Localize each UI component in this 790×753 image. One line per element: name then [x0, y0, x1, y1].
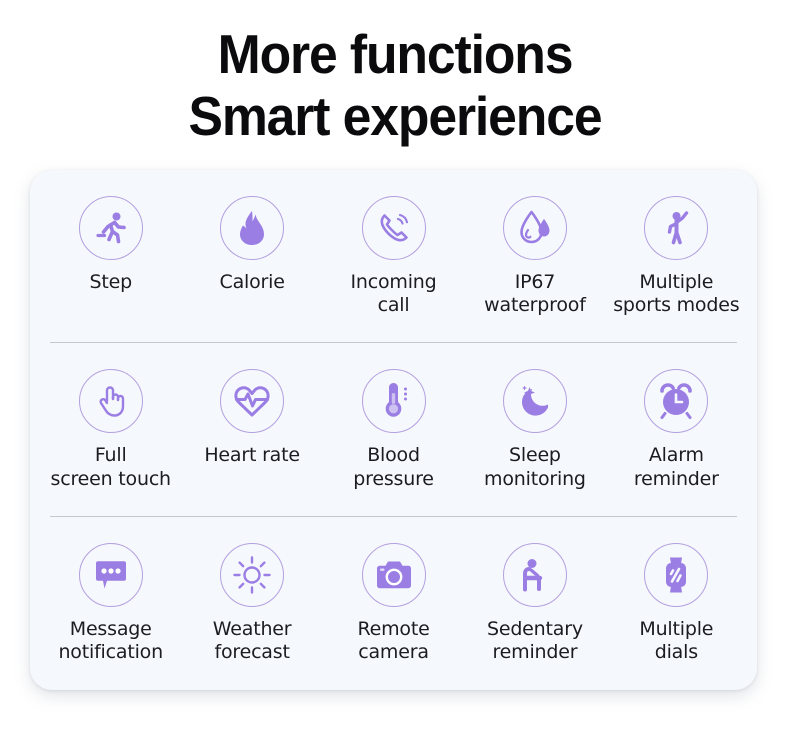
feature-item-ip67-waterproof[interactable]: IP67 waterproof	[464, 170, 605, 317]
camera-icon	[362, 543, 426, 607]
feature-label: Calorie	[220, 271, 285, 294]
sitting-person-icon	[503, 543, 567, 607]
heart-pulse-icon	[220, 369, 284, 433]
feature-label: Message notification	[58, 618, 162, 664]
feature-label: IP67 waterproof	[484, 271, 586, 317]
feature-label: Weather forecast	[213, 618, 292, 664]
water-drop-icon	[503, 196, 567, 260]
feature-row: Step Calorie Incoming call	[30, 170, 757, 343]
page-title-line-1: More functions	[24, 24, 767, 86]
page-title: More functions Smart experience	[0, 0, 790, 147]
feature-item-sleep-monitoring[interactable]: Sleep monitoring	[464, 343, 605, 490]
feature-item-step[interactable]: Step	[40, 170, 181, 294]
feature-item-full-screen-touch[interactable]: Full screen touch	[40, 343, 181, 490]
feature-row: Full screen touch Heart rate	[30, 343, 757, 516]
sun-icon	[220, 543, 284, 607]
feature-label: Multiple sports modes	[613, 271, 739, 317]
feature-item-incoming-call[interactable]: Incoming call	[323, 170, 464, 317]
feature-item-multiple-dials[interactable]: Multiple dials	[606, 517, 747, 664]
feature-item-blood-pressure[interactable]: Blood pressure	[323, 343, 464, 490]
incoming-call-icon	[362, 196, 426, 260]
feature-item-weather-forecast[interactable]: Weather forecast	[181, 517, 322, 664]
flame-icon	[220, 196, 284, 260]
smartwatch-icon	[644, 543, 708, 607]
feature-label: Blood pressure	[353, 444, 433, 490]
feature-item-calorie[interactable]: Calorie	[181, 170, 322, 294]
feature-item-alarm-reminder[interactable]: Alarm reminder	[606, 343, 747, 490]
features-card: Step Calorie Incoming call	[30, 170, 757, 690]
thermometer-icon	[362, 369, 426, 433]
feature-label: Sedentary reminder	[487, 618, 583, 664]
running-person-icon	[79, 196, 143, 260]
feature-label: Incoming call	[351, 271, 437, 317]
feature-item-message-notification[interactable]: Message notification	[40, 517, 181, 664]
feature-item-sedentary-reminder[interactable]: Sedentary reminder	[464, 517, 605, 664]
feature-label: Full screen touch	[51, 444, 171, 490]
feature-label: Sleep monitoring	[484, 444, 586, 490]
feature-label: Heart rate	[204, 444, 300, 467]
chat-bubble-icon	[79, 543, 143, 607]
touch-hand-icon	[79, 369, 143, 433]
moon-stars-icon	[503, 369, 567, 433]
page-title-line-2: Smart experience	[24, 86, 767, 148]
feature-item-multiple-sports-modes[interactable]: Multiple sports modes	[606, 170, 747, 317]
feature-item-remote-camera[interactable]: Remote camera	[323, 517, 464, 664]
feature-label: Alarm reminder	[634, 444, 719, 490]
alarm-clock-icon	[644, 369, 708, 433]
feature-label: Multiple dials	[639, 618, 713, 664]
stretching-person-icon	[644, 196, 708, 260]
feature-label: Remote camera	[357, 618, 429, 664]
feature-label: Step	[89, 271, 131, 294]
feature-row: Message notification	[30, 517, 757, 690]
feature-item-heart-rate[interactable]: Heart rate	[181, 343, 322, 467]
